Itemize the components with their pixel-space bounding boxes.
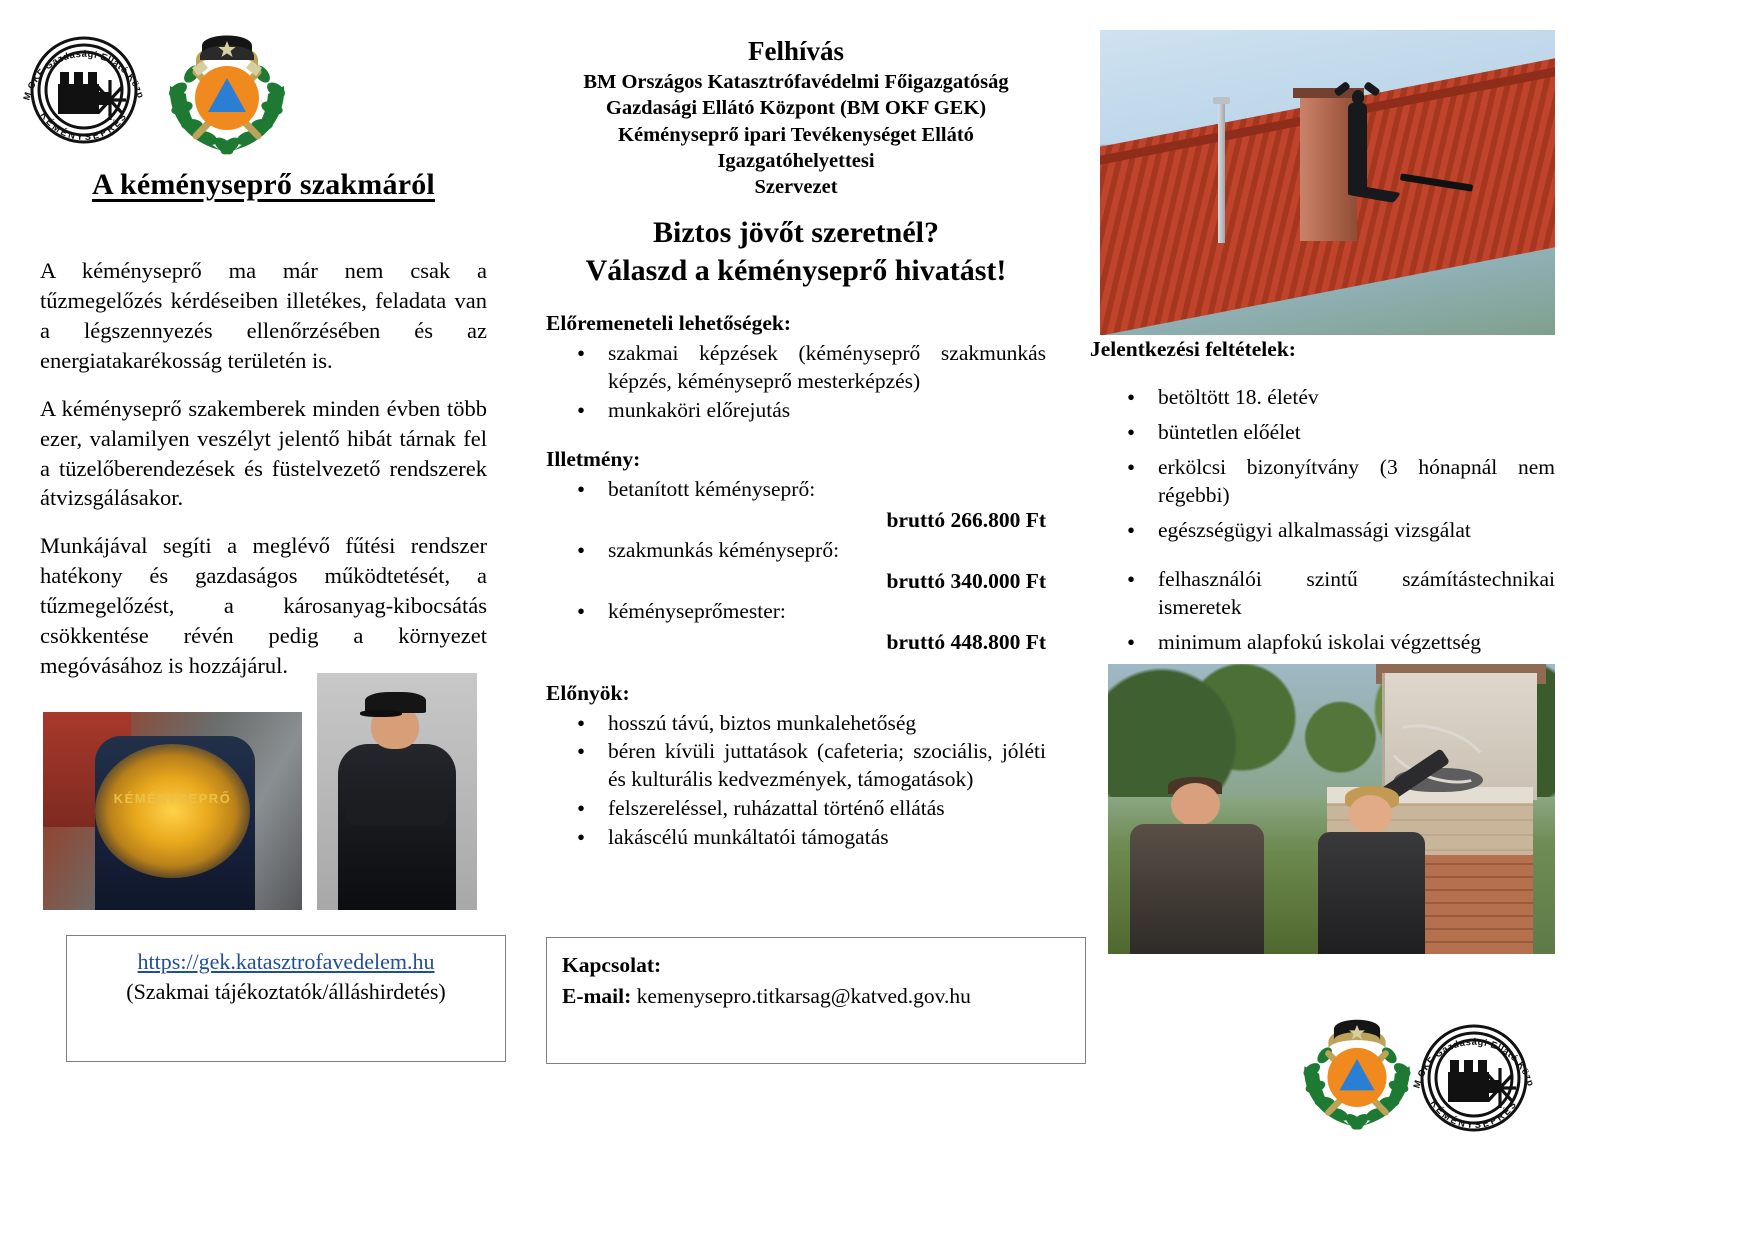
list-item: betanított kéményseprő: bruttó 266.800 F… (608, 476, 1046, 536)
list-item-label: betöltött 18. életév (1158, 385, 1319, 409)
left-paragraph: A kéményseprő ma már nem csak a tűzmegel… (40, 256, 487, 376)
list-item-label: hosszú távú, biztos munkalehetőség (608, 711, 916, 735)
advancement-list: szakmai képzések (kéményseprő szakmunkás… (546, 340, 1046, 425)
list-item-label: felhasználói szintű számítástechnikai is… (1158, 567, 1555, 619)
website-info-box: https://gek.katasztrofavedelem.hu (Szakm… (66, 935, 506, 1062)
list-item: betöltött 18. életév (1158, 384, 1555, 412)
svg-text:KÉMÉNYSEPRÉS: KÉMÉNYSEPRÉS (1429, 1098, 1520, 1130)
document-heading: Felhívás (546, 36, 1046, 66)
list-item: felhasználói szintű számítástechnikai is… (1158, 566, 1555, 622)
list-item: lakáscélú munkáltatói támogatás (608, 824, 1046, 852)
left-paragraph: Munkájával segíti a meglévő fűtési rends… (40, 531, 487, 681)
katasztrofavedelem-emblem-bottom-svg (1297, 1008, 1417, 1134)
bm-okf-gek-logo-bottom-svg: • BM OKF Gazdasági Ellátó Központ KÉMÉNY… (1404, 1008, 1544, 1148)
contact-box: Kapcsolat: E-mail: kemenysepro.titkarsag… (546, 937, 1086, 1064)
katasztrofavedelem-emblem-svg (162, 24, 292, 158)
list-item: szakmunkás kéményseprő: bruttó 340.000 F… (608, 537, 1046, 597)
salary-amount: bruttó 448.800 Ft (608, 627, 1046, 658)
list-item-label: erkölcsi bizonyítvány (3 hónapnál nem ré… (1158, 455, 1555, 507)
bm-okf-gek-logo: • BM OKF Gazdasági Ellátó Központ KÉMÉNY… (14, 20, 154, 160)
section-heading-benefits: Előnyök: (546, 681, 1046, 706)
list-item: hosszú távú, biztos munkalehetőség (608, 710, 1046, 738)
list-item-label: felszereléssel, ruházattal történő ellát… (608, 796, 945, 820)
organization-line: BM Országos Katasztrófavédelmi Főigazgat… (546, 69, 1046, 95)
chimney-sweep-on-red-roof-photo (1100, 30, 1555, 335)
organization-line: Szervezet (546, 174, 1046, 200)
list-item-label: minimum alapfokú iskolai végzettség (1158, 630, 1481, 654)
list-item-label: kéményseprőmester: (608, 599, 786, 623)
salary-amount: bruttó 266.800 Ft (608, 505, 1046, 536)
list-item-label: szakmunkás kéményseprő: (608, 538, 839, 562)
contact-heading: Kapcsolat: (562, 950, 1085, 981)
section-heading-advancement: Előremeneteli lehetőségek: (546, 311, 1046, 336)
slogan-line: Válaszd a kéményseprő hivatást! (546, 252, 1046, 290)
two-chimney-sweeps-working-photo (1108, 664, 1555, 954)
katasztrofavedelem-emblem (162, 24, 292, 158)
list-item: béren kívüli juttatások (cafeteria; szoc… (608, 738, 1046, 794)
website-link[interactable]: https://gek.katasztrofavedelem.hu (138, 949, 435, 974)
section-heading-requirements: Jelentkezési feltételek: (1090, 337, 1555, 362)
list-item-label: munkaköri előrejutás (608, 398, 790, 422)
bm-okf-gek-logo-bottom: • BM OKF Gazdasági Ellátó Központ KÉMÉNY… (1404, 1008, 1544, 1148)
page-title: A kéményseprő szakmáról (40, 168, 487, 202)
benefits-list: hosszú távú, biztos munkalehetőség béren… (546, 710, 1046, 853)
katasztrofavedelem-emblem-bottom (1297, 1008, 1417, 1134)
list-item: kéményseprőmester: bruttó 448.800 Ft (608, 598, 1046, 658)
left-body-text: A kéményseprő ma már nem csak a tűzmegel… (40, 256, 487, 681)
email-label: E-mail: (562, 984, 631, 1008)
organization-line: Kéményseprő ipari Tevékenységet Ellátó I… (546, 122, 1046, 174)
contact-email-row: E-mail: kemenysepro.titkarsag@katved.gov… (562, 981, 1085, 1012)
salary-list: betanított kéményseprő: bruttó 266.800 F… (546, 476, 1046, 658)
list-item: minimum alapfokú iskolai végzettség (1158, 629, 1555, 657)
section-heading-salary: Illetmény: (546, 447, 1046, 472)
middle-column: Felhívás BM Országos Katasztrófavédelmi … (546, 36, 1046, 853)
list-item: felszereléssel, ruházattal történő ellát… (608, 795, 1046, 823)
left-column: A kéményseprő szakmáról A kéményseprő ma… (40, 168, 487, 699)
bm-okf-gek-logo-svg: • BM OKF Gazdasági Ellátó Központ KÉMÉNY… (14, 20, 154, 160)
organization-line: Gazdasági Ellátó Központ (BM OKF GEK) (546, 95, 1046, 121)
organization-heading: BM Országos Katasztrófavédelmi Főigazgat… (546, 69, 1046, 200)
list-item: szakmai képzések (kéményseprő szakmunkás… (608, 340, 1046, 396)
list-item-label: büntetlen előélet (1158, 420, 1301, 444)
jacket-text: KÉMÉNYSEPRŐ (114, 791, 232, 806)
slogan-line: Biztos jövőt szeretnél? (546, 214, 1046, 252)
chimney-sweep-back-brush-photo: KÉMÉNYSEPRŐ (43, 712, 302, 910)
list-item: munkaköri előrejutás (608, 397, 1046, 425)
website-link-subtitle: (Szakmai tájékoztatók/álláshirdetés) (67, 977, 505, 1007)
chimney-sweep-portrait-photo (317, 673, 477, 910)
right-column: Jelentkezési feltételek: betöltött 18. é… (1090, 337, 1555, 698)
email-address[interactable]: kemenysepro.titkarsag@katved.gov.hu (637, 984, 971, 1008)
slogan: Biztos jövőt szeretnél? Válaszd a kémény… (546, 214, 1046, 289)
svg-text:KÉMÉNYSEPRÉS: KÉMÉNYSEPRÉS (39, 110, 130, 142)
list-item-label: betanított kéményseprő: (608, 477, 815, 501)
salary-amount: bruttó 340.000 Ft (608, 566, 1046, 597)
list-item-label: egészségügyi alkalmassági vizsgálat (1158, 518, 1471, 542)
list-item: erkölcsi bizonyítvány (3 hónapnál nem ré… (1158, 454, 1555, 510)
list-item-label: béren kívüli juttatások (cafeteria; szoc… (608, 739, 1046, 791)
requirements-list: betöltött 18. életév büntetlen előélet e… (1090, 384, 1555, 691)
left-paragraph: A kéményseprő szakemberek minden évben t… (40, 394, 487, 514)
list-item: büntetlen előélet (1158, 419, 1555, 447)
list-item: egészségügyi alkalmassági vizsgálat (1158, 517, 1555, 545)
list-item-label: szakmai képzések (kéményseprő szakmunkás… (608, 341, 1046, 393)
list-item-label: lakáscélú munkáltatói támogatás (608, 825, 889, 849)
